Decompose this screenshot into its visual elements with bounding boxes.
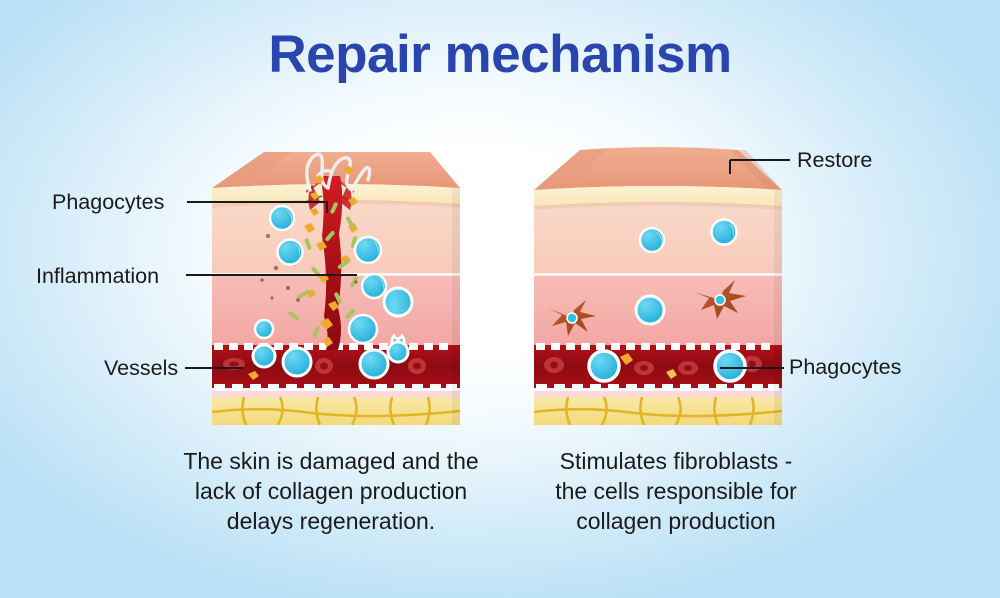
caption-damaged-skin: The skin is damaged and the lack of coll… xyxy=(140,446,522,536)
label-inflammation: Inflammation xyxy=(36,264,159,289)
caption-line: The skin is damaged and the xyxy=(140,446,522,476)
label-restore: Restore xyxy=(797,148,872,173)
caption-line: lack of collagen production xyxy=(140,476,522,506)
subcutaneous-fat-restored xyxy=(534,397,782,425)
caption-line: collagen production xyxy=(512,506,840,536)
caption-line: delays regeneration. xyxy=(140,506,522,536)
diagram-canvas: Repair mechanism xyxy=(0,0,1000,598)
caption-line: Stimulates fibroblasts - xyxy=(512,446,840,476)
label-phagocytes-left: Phagocytes xyxy=(52,190,164,215)
caption-restored-skin: Stimulates fibroblasts - the cells respo… xyxy=(512,446,840,536)
skin-block-restored xyxy=(524,140,792,425)
skin-top-surface-restored xyxy=(534,147,782,190)
label-phagocytes-right: Phagocytes xyxy=(789,355,901,380)
caption-line: the cells responsible for xyxy=(512,476,840,506)
page-title: Repair mechanism xyxy=(0,24,1000,85)
skin-block-damaged xyxy=(202,140,470,425)
blood-vessel-band-damaged xyxy=(212,343,460,397)
subcutaneous-fat-damaged xyxy=(212,397,460,425)
label-vessels: Vessels xyxy=(104,356,178,381)
